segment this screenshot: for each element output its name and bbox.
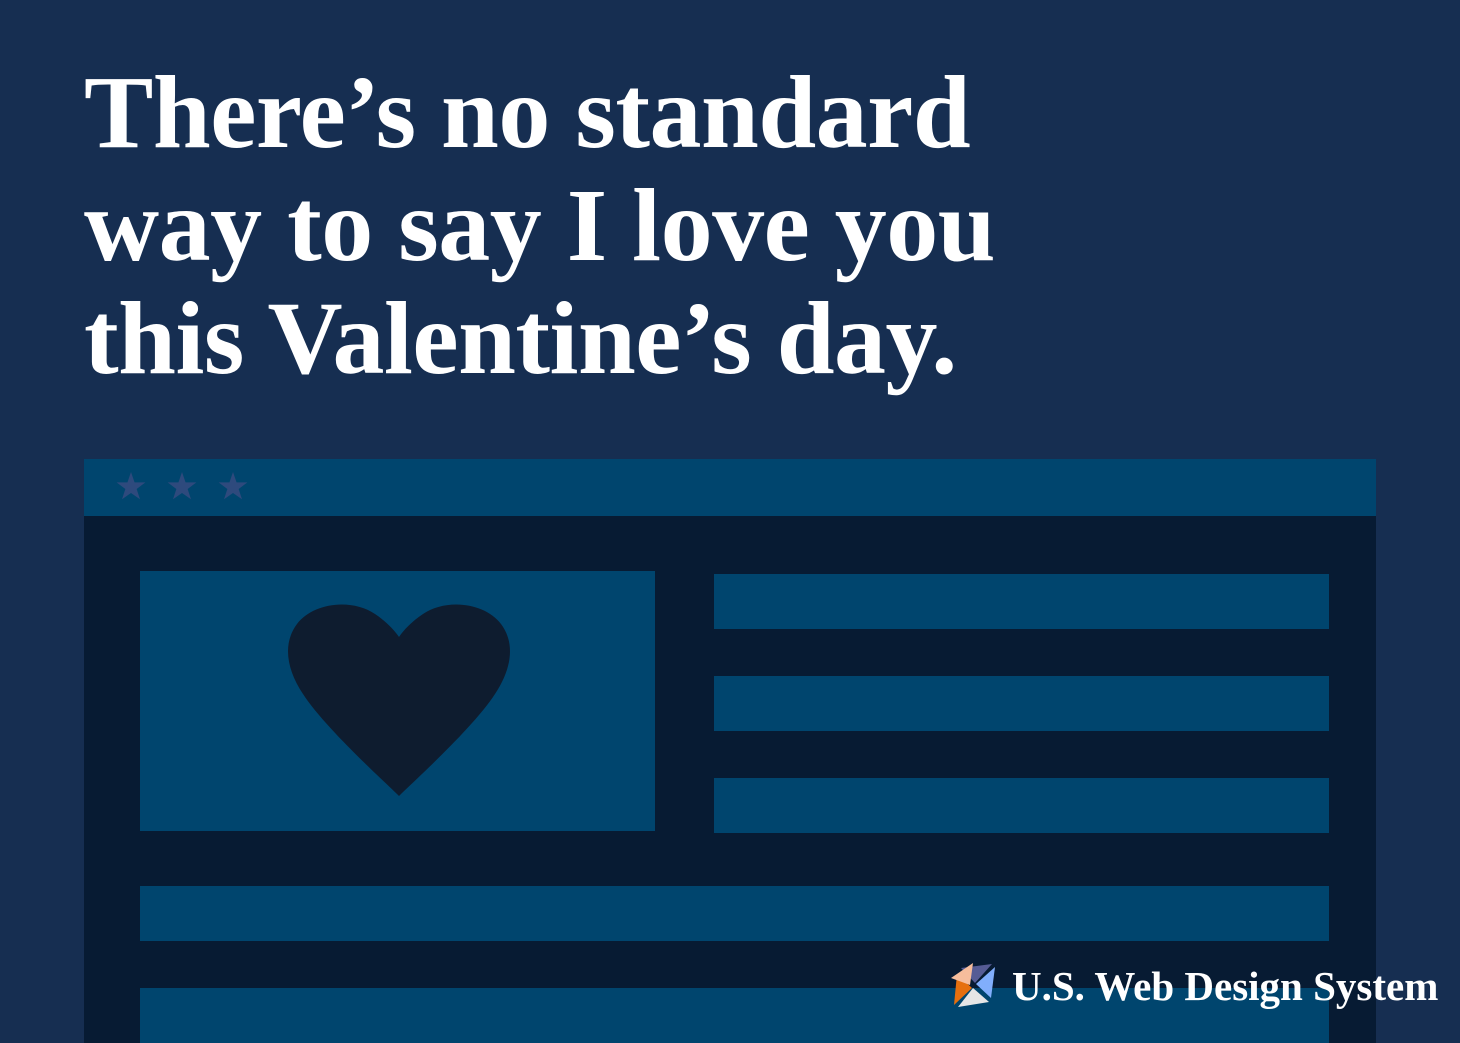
hero-image-placeholder [140,571,655,831]
star-icon [218,472,248,502]
page-title: There’s no standard way to say I love yo… [84,56,1204,395]
placeholder-bar [140,886,1329,941]
poster-canvas: There’s no standard way to say I love yo… [0,0,1460,1043]
window-titlebar [84,459,1376,516]
heart-icon [285,604,513,796]
headline-line-2: way to say I love you [84,169,1204,282]
uswds-wordmark: U.S. Web Design System [1012,961,1438,1011]
window-controls [116,472,248,502]
uswds-pinwheel-icon [948,961,998,1011]
browser-window-mock [84,459,1376,1043]
uswds-logo-lockup: U.S. Web Design System [948,958,1438,1014]
placeholder-bar [714,778,1329,833]
placeholder-bar [714,574,1329,629]
headline-line-3: this Valentine’s day. [84,282,1204,395]
placeholder-bar [714,676,1329,731]
star-icon [167,472,197,502]
star-icon [116,472,146,502]
headline-line-1: There’s no standard [84,56,1204,169]
